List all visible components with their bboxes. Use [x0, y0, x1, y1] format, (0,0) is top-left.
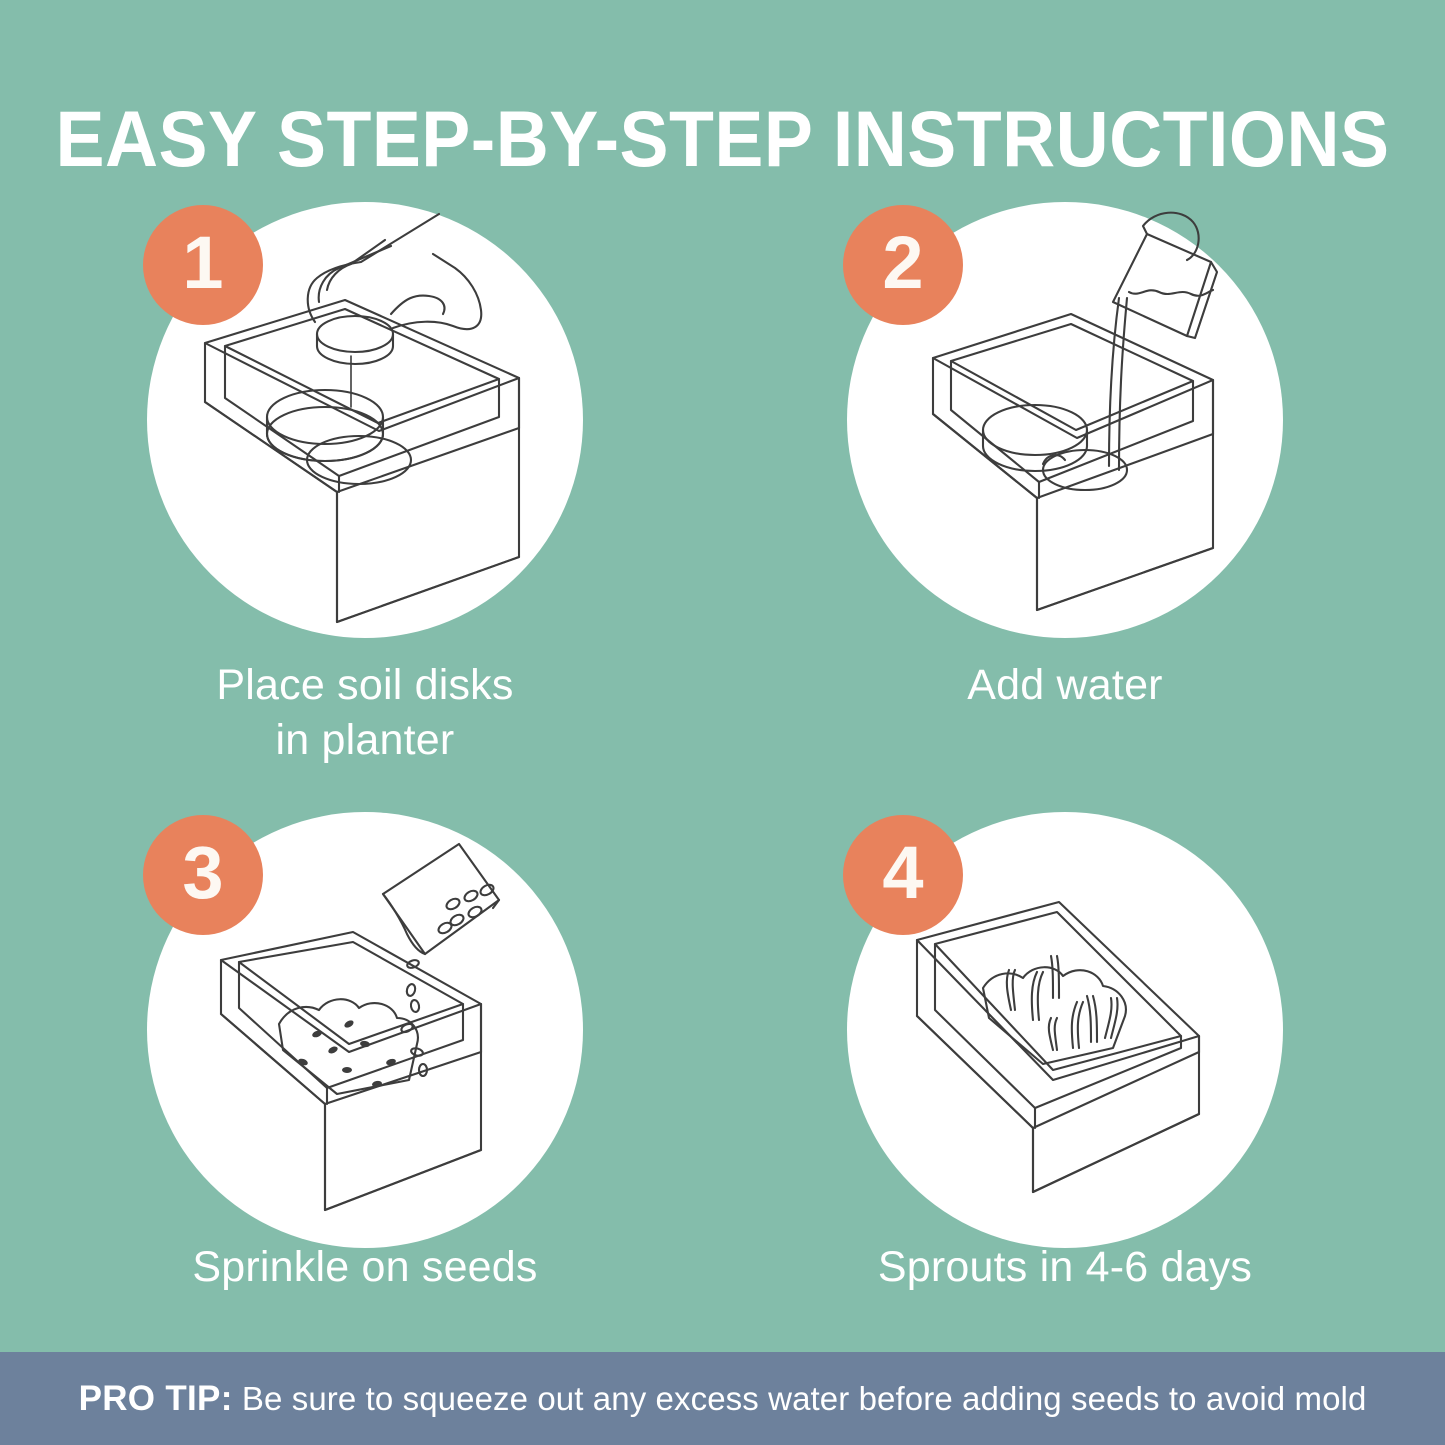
step-caption-2-line1: Add water	[715, 658, 1415, 713]
step-card-1: 1 Place soil disks in planter	[15, 190, 715, 770]
step-caption-1-line2: in planter	[15, 713, 715, 768]
pro-tip-label: PRO TIP:	[79, 1379, 233, 1418]
pro-tip-text: Be sure to squeeze out any excess water …	[233, 1380, 1367, 1417]
infographic-page: EASY STEP-BY-STEP INSTRUCTIONS	[0, 0, 1445, 1445]
step-card-3: 3 Sprinkle on seeds	[15, 800, 715, 1380]
pro-tip-line: PRO TIP: Be sure to squeeze out any exce…	[79, 1381, 1367, 1416]
step-card-4: 4 Sprouts in 4-6 days	[715, 800, 1415, 1380]
step-caption-3-line1: Sprinkle on seeds	[15, 1240, 715, 1295]
page-title: EASY STEP-BY-STEP INSTRUCTIONS	[51, 99, 1395, 178]
step-number-badge-3: 3	[143, 815, 263, 935]
step-number-badge-1: 1	[143, 205, 263, 325]
step-caption-1: Place soil disks in planter	[15, 658, 715, 768]
step-number-badge-4: 4	[843, 815, 963, 935]
pro-tip-bar: PRO TIP: Be sure to squeeze out any exce…	[0, 1352, 1445, 1445]
step-card-2: 2 Add water	[715, 190, 1415, 770]
step-caption-4-line1: Sprouts in 4-6 days	[715, 1240, 1415, 1295]
step-caption-2: Add water	[715, 658, 1415, 713]
step-caption-4: Sprouts in 4-6 days	[715, 1240, 1415, 1295]
step-number-badge-2: 2	[843, 205, 963, 325]
step-caption-1-line1: Place soil disks	[15, 658, 715, 713]
step-caption-3: Sprinkle on seeds	[15, 1240, 715, 1295]
